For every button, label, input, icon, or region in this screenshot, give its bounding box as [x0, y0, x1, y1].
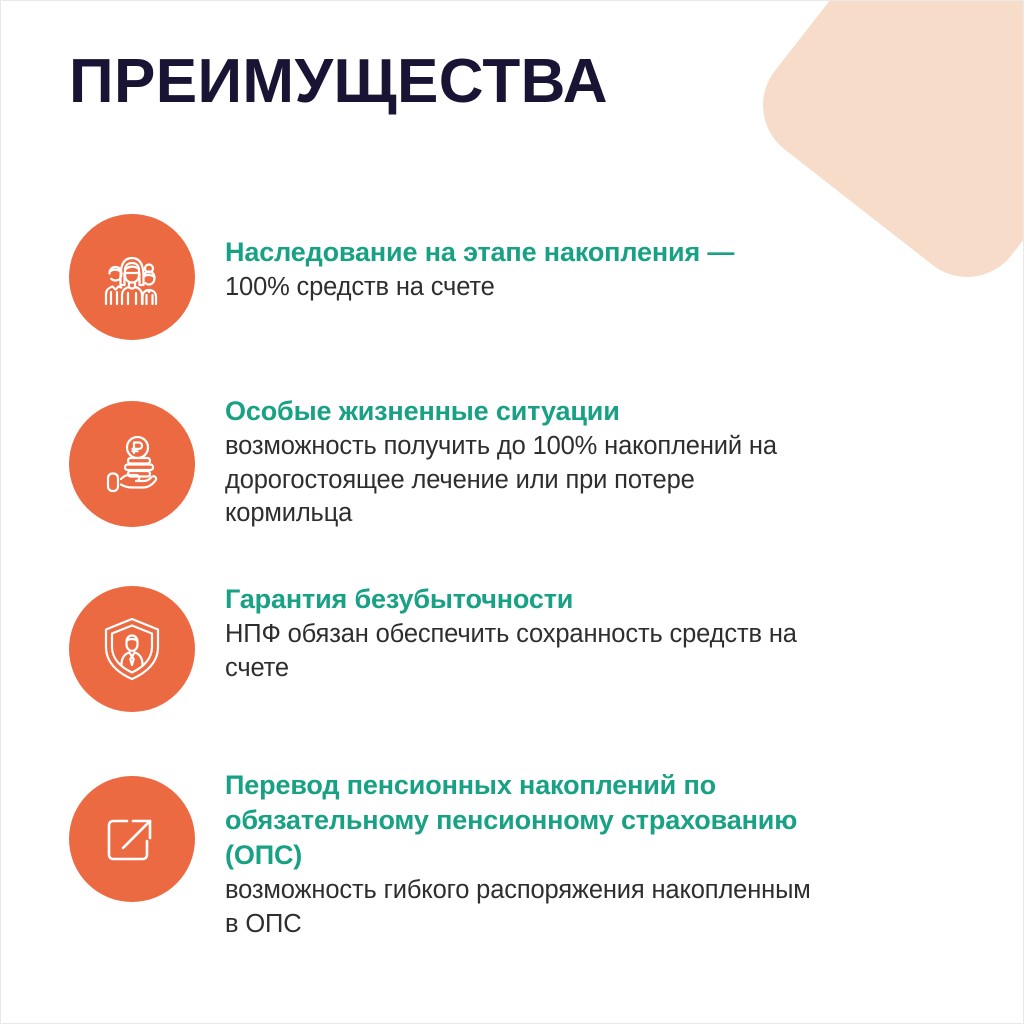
benefit-text-block: Гарантия безубыточности НПФ обязан обесп… — [195, 578, 825, 685]
benefit-body: возможность гибкого распоряжения накопле… — [225, 874, 825, 941]
benefit-item: Перевод пенсионных накоплений по обязате… — [69, 768, 959, 942]
benefit-text-block: Наследование на этапе накопления — 100% … — [195, 206, 825, 305]
benefit-heading: Наследование на этапе накопления — — [225, 235, 825, 270]
shield-person-icon — [69, 586, 195, 712]
benefit-item: Особые жизненные ситуации возможность по… — [69, 393, 959, 531]
export-arrow-icon — [69, 776, 195, 902]
benefit-body: НПФ обязан обеспечить сохранность средст… — [225, 618, 825, 685]
benefit-item: Гарантия безубыточности НПФ обязан обесп… — [69, 578, 959, 712]
benefit-body: возможность получить до 100% накоплений … — [225, 430, 825, 531]
benefit-heading: Перевод пенсионных накоплений по обязате… — [225, 768, 825, 873]
page-title: ПРЕИМУЩЕСТВА — [69, 51, 608, 113]
benefit-item: Наследование на этапе накопления — 100% … — [69, 206, 959, 340]
slide-canvas: ПРЕИМУЩЕСТВА — [0, 0, 1024, 1024]
benefit-text-block: Перевод пенсионных накоплений по обязате… — [195, 768, 825, 942]
hand-holding-ruble-coins-icon — [69, 401, 195, 527]
benefit-text-block: Особые жизненные ситуации возможность по… — [195, 393, 825, 531]
benefit-heading: Гарантия безубыточности — [225, 582, 825, 617]
benefit-body: 100% средств на счете — [225, 271, 825, 305]
family-group-icon — [69, 214, 195, 340]
benefit-heading: Особые жизненные ситуации — [225, 394, 825, 429]
